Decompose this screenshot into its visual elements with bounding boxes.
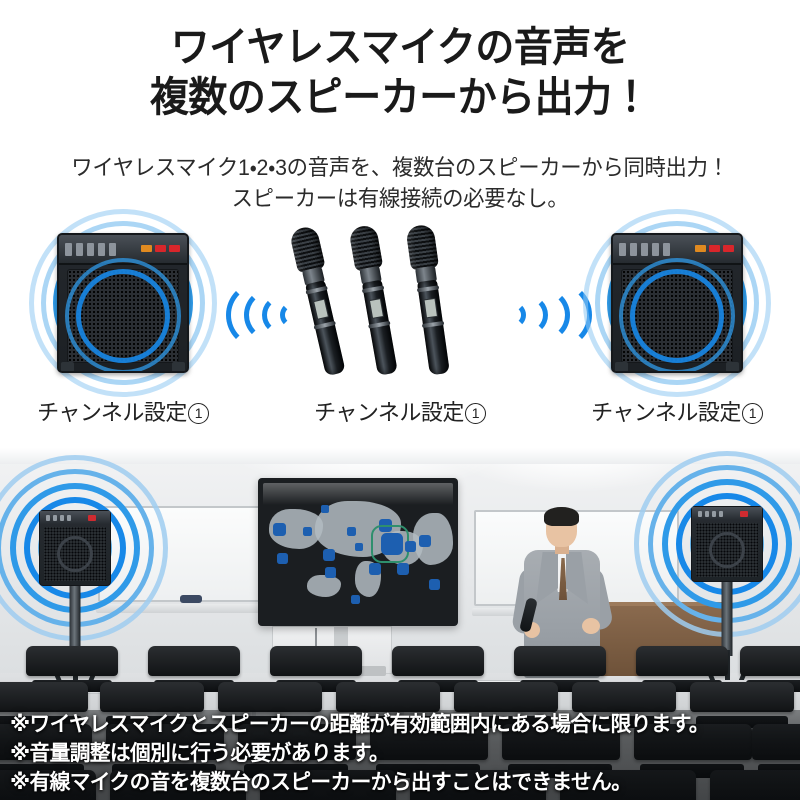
- footnote-list: ※ワイヤレスマイクとスピーカーの距離が有効範囲内にある場合に限ります。 ※音量調…: [10, 710, 784, 797]
- speaker-led-icon: [695, 245, 734, 252]
- speaker-stand-pole: [722, 580, 733, 656]
- speaker-grille-icon: [621, 269, 733, 363]
- caption-right-text: チャンネル設定: [591, 400, 741, 425]
- subheadline-line-1: ワイヤレスマイク1・2・3の音声を、複数台のスピーカーから同時出力！: [12, 152, 788, 183]
- caption-center-text: チャンネル設定: [314, 400, 464, 425]
- speaker-right-illustration: [582, 220, 772, 385]
- footnote-overlay: ※ワイヤレスマイクとスピーカーの距離が有効範囲内にある場合に限ります。 ※音量調…: [0, 710, 800, 800]
- microphone-icon-3: [404, 223, 455, 376]
- top-section: ワイヤレスマイクの音声を 複数のスピーカーから出力！ ワイヤレスマイク1・2・3…: [0, 0, 800, 448]
- wireless-microphones-illustration: [315, 220, 485, 380]
- diagram-microphone-group: チャンネル設定1: [286, 214, 514, 434]
- diagram-left-speaker-group: チャンネル設定1: [8, 214, 238, 434]
- caption-right: チャンネル設定1: [562, 400, 792, 426]
- footnote-line-2: ※音量調整は個別に行う必要があります。: [10, 739, 784, 768]
- portable-speaker-icon: [691, 506, 763, 582]
- page-title: ワイヤレスマイクの音声を 複数のスピーカーから出力！: [20, 22, 780, 122]
- caption-center-number: 1: [465, 403, 486, 424]
- diagram-right-speaker-group: チャンネル設定1: [562, 214, 792, 434]
- footnote-line-1: ※ワイヤレスマイクとスピーカーの距離が有効範囲内にある場合に限ります。: [10, 710, 784, 739]
- speaker-left-illustration: [28, 220, 218, 385]
- portable-speaker-icon: [611, 233, 743, 373]
- speaker-led-icon: [141, 245, 180, 252]
- presenter-hair: [544, 507, 579, 526]
- speaker-grille-icon: [67, 269, 179, 363]
- portable-speaker-icon: [57, 233, 189, 373]
- caption-center: チャンネル設定1: [286, 400, 514, 426]
- display-monitor: [258, 478, 458, 626]
- microphone-icon-2: [347, 224, 403, 377]
- marker-left: [180, 595, 202, 603]
- speaker-knobs-icon: [619, 243, 670, 256]
- classroom-photo: ※ワイヤレスマイクとスピーカーの距離が有効範囲内にある場合に限ります。 ※音量調…: [0, 448, 800, 800]
- caption-right-number: 1: [742, 403, 763, 424]
- caption-left-text: チャンネル設定: [37, 400, 187, 425]
- speaker-knobs-icon: [65, 243, 116, 256]
- headline-line-2: 複数のスピーカーから出力！: [20, 72, 780, 122]
- headline-line-1: ワイヤレスマイクの音声を: [20, 22, 780, 72]
- monitor-screen: [263, 483, 453, 621]
- presenter-hand-right: [582, 618, 600, 634]
- caption-left-number: 1: [188, 403, 209, 424]
- caption-left: チャンネル設定1: [8, 400, 238, 426]
- page-subtitle: ワイヤレスマイク1・2・3の音声を、複数台のスピーカーから同時出力！ スピーカー…: [12, 152, 788, 214]
- sound-wave-right-icon: [498, 276, 570, 354]
- promo-page: ワイヤレスマイクの音声を 複数のスピーカーから出力！ ワイヤレスマイク1・2・3…: [0, 0, 800, 800]
- portable-speaker-icon: [39, 510, 111, 586]
- microphone-icon-1: [288, 224, 351, 377]
- signal-flow-diagram: チャンネル設定1: [0, 214, 800, 434]
- footnote-line-3: ※有線マイクの音を複数台のスピーカーから出すことはできません。: [10, 768, 784, 797]
